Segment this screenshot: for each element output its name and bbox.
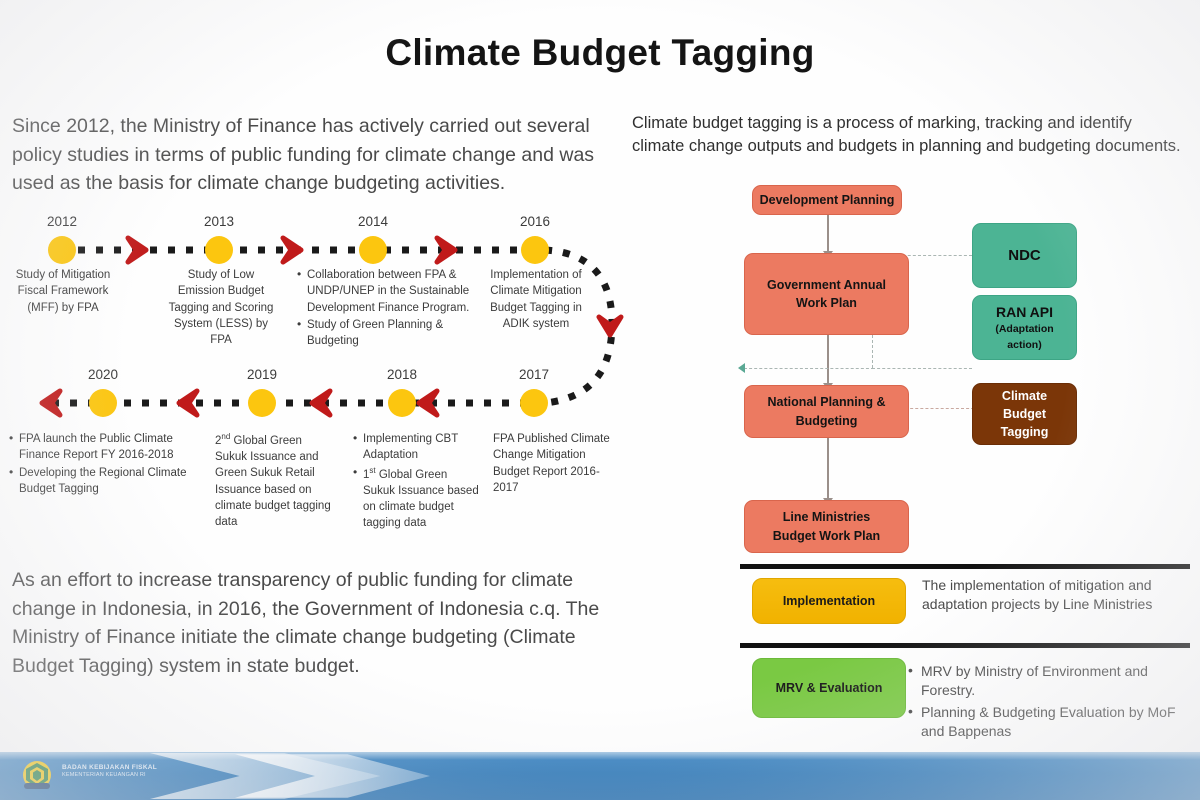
timeline-year-2013: 2013 xyxy=(174,214,264,229)
flow-box-government-annual-work-plan[interactable]: Government AnnualWork Plan xyxy=(744,253,909,335)
flow-box-ndc-label: NDC xyxy=(1008,245,1041,267)
timeline-2012-line-1: Study of Mitigation xyxy=(4,267,122,283)
ministry-of-finance-logo-icon xyxy=(22,760,52,792)
flow-box-ran-api-label: RAN API xyxy=(979,302,1070,322)
timeline-2013-line-4: System (LESS) by xyxy=(163,316,279,332)
flow-box-development-planning-label: Development Planning xyxy=(760,191,895,209)
flow-box-climate-budget-tagging-label: ClimateBudget Tagging xyxy=(979,387,1070,441)
flow-box-ran-api-sublabel: (Adaptation action) xyxy=(979,322,1070,352)
badge-mrv-evaluation-label: MRV & Evaluation xyxy=(776,681,883,695)
definition-paragraph: Climate budget tagging is a process of m… xyxy=(632,112,1188,159)
connector-dev-to-annual xyxy=(827,215,829,253)
mrv-bullet-2: Planning & Budgeting Evaluation by MoF a… xyxy=(908,703,1193,742)
dash-ranapi-to-bus xyxy=(872,368,972,369)
footer-org-line-1: BADAN KEBIJAKAN FISKAL xyxy=(62,764,157,771)
timeline-entry-2020: FPA launch the Public Climate Finance Re… xyxy=(8,431,203,498)
flow-box-climate-budget-tagging[interactable]: ClimateBudget Tagging xyxy=(972,383,1077,445)
flow-box-government-annual-work-plan-label: Government AnnualWork Plan xyxy=(767,276,886,312)
dash-bus-to-annual-head xyxy=(738,363,745,373)
closing-paragraph: As an effort to increase transparency of… xyxy=(12,566,612,681)
timeline-entry-2013: Study of Low Emission Budget Tagging and… xyxy=(163,267,279,349)
badge-mrv-evaluation[interactable]: MRV & Evaluation xyxy=(752,658,906,718)
timeline-year-2020: 2020 xyxy=(58,367,148,382)
connector-national-to-line xyxy=(827,438,829,500)
timeline-entry-2019: 2nd Global Green Sukuk Issuance and Gree… xyxy=(215,431,335,531)
timeline-2018-bullet-1: Implementing CBT Adaptation xyxy=(363,431,480,464)
timeline-2013-line-2: Emission Budget xyxy=(163,283,279,299)
right-column: Climate budget tagging is a process of m… xyxy=(632,112,1188,159)
flow-box-line-ministries-budget-work-plan[interactable]: Line MinistriesBudget Work Plan xyxy=(744,500,909,553)
timeline-entry-2012: Study of Mitigation Fiscal Framework (MF… xyxy=(4,267,122,316)
timeline-2014-bullet-2: Study of Green Planning & Budgeting xyxy=(307,317,478,350)
timeline-year-2016: 2016 xyxy=(490,214,580,229)
timeline-year-2017: 2017 xyxy=(489,367,579,382)
timeline-entry-2014: Collaboration between FPA & UNDP/UNEP in… xyxy=(296,267,478,351)
flow-box-line-ministries-label: Line MinistriesBudget Work Plan xyxy=(773,508,880,544)
timeline-entry-2016: Implementation of Climate Mitigation Bud… xyxy=(481,267,591,332)
flow-box-ran-api[interactable]: RAN API (Adaptation action) xyxy=(972,295,1077,360)
timeline-diagram: 2012 2013 2014 2016 Study of Mitigation … xyxy=(0,205,640,555)
timeline-2018-bullet-2: 1st Global Green Sukuk Issuance based on… xyxy=(363,465,480,532)
footer-org-name: BADAN KEBIJAKAN FISKAL KEMENTERIAN KEUAN… xyxy=(62,764,157,778)
mrv-evaluation-description: MRV by Ministry of Environment and Fores… xyxy=(908,662,1193,743)
flow-box-ndc[interactable]: NDC xyxy=(972,223,1077,288)
timeline-2012-line-3: (MFF) by FPA xyxy=(4,300,122,316)
implementation-description: The implementation of mitigation and ada… xyxy=(922,576,1184,615)
timeline-2013-line-5: FPA xyxy=(163,332,279,348)
timeline-2014-bullet-1: Collaboration between FPA & UNDP/UNEP in… xyxy=(307,267,478,316)
timeline-year-2014: 2014 xyxy=(328,214,418,229)
dash-bus-to-annual xyxy=(744,368,874,369)
timeline-2016-line-1: Implementation of xyxy=(481,267,591,283)
badge-implementation[interactable]: Implementation xyxy=(752,578,906,624)
timeline-entry-2018: Implementing CBT Adaptation 1st Global G… xyxy=(352,431,480,533)
divider-mrv-top xyxy=(740,643,1190,648)
timeline-year-2018: 2018 xyxy=(357,367,447,382)
timeline-2013-line-1: Study of Low xyxy=(163,267,279,283)
page-title: Climate Budget Tagging xyxy=(0,32,1200,74)
divider-implementation-top xyxy=(740,564,1190,569)
intro-paragraph: Since 2012, the Ministry of Finance has … xyxy=(12,112,612,198)
timeline-2020-bullet-2: Developing the Regional Climate Budget T… xyxy=(19,465,203,498)
left-column: Since 2012, the Ministry of Finance has … xyxy=(12,112,612,198)
footer-bar: BADAN KEBIJAKAN FISKAL KEMENTERIAN KEUAN… xyxy=(0,752,1200,800)
flow-box-national-planning-budgeting-label: National Planning &Budgeting xyxy=(767,393,885,429)
connector-annual-to-national xyxy=(827,335,829,385)
timeline-year-2019: 2019 xyxy=(217,367,307,382)
timeline-2013-line-3: Tagging and Scoring xyxy=(163,300,279,316)
badge-implementation-label: Implementation xyxy=(783,594,875,608)
footer-org-line-2: KEMENTERIAN KEUANGAN RI xyxy=(62,772,157,778)
timeline-2016-line-4: ADIK system xyxy=(481,316,591,332)
timeline-2012-line-2: Fiscal Framework xyxy=(4,283,122,299)
flow-box-national-planning-budgeting[interactable]: National Planning &Budgeting xyxy=(744,385,909,438)
timeline-2016-line-3: Budget Tagging in xyxy=(481,300,591,316)
flow-box-development-planning[interactable]: Development Planning xyxy=(752,185,902,215)
mrv-bullet-1: MRV by Ministry of Environment and Fores… xyxy=(908,662,1193,701)
timeline-2016-line-2: Climate Mitigation xyxy=(481,283,591,299)
timeline-year-2012: 2012 xyxy=(17,214,107,229)
timeline-entry-2017: FPA Published Climate Change Mitigation … xyxy=(493,431,613,496)
slide-canvas: Climate Budget Tagging Since 2012, the M… xyxy=(0,0,1200,800)
flowchart: Development Planning Government AnnualWo… xyxy=(632,180,1192,570)
timeline-2020-bullet-1: FPA launch the Public Climate Finance Re… xyxy=(19,431,203,464)
